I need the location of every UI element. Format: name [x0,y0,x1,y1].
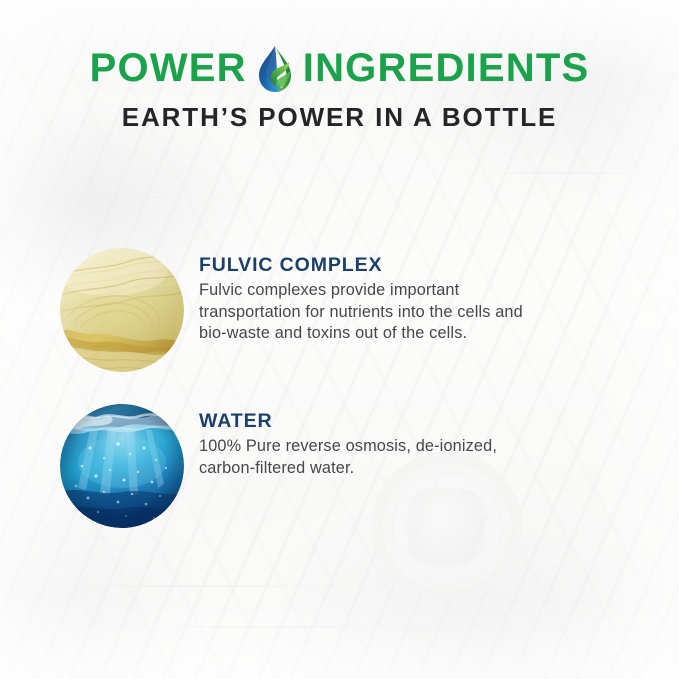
description-line: 100% Pure reverse osmosis, de-ionized, [199,436,619,458]
ingredient-row-fulvic-complex: FULVIC COMPLEX Fulvic complexes provide … [60,248,619,372]
background-streak [0,585,400,587]
background-streak [0,196,270,198]
power-ingredients-poster: POWER [0,0,679,679]
ingredient-title-fulvic-complex: FULVIC COMPLEX [199,254,619,276]
page-subtitle: EARTH’S POWER IN A BOTTLE [0,102,679,132]
description-line: transportation for nutrients into the ce… [199,302,619,324]
poster-header: POWER [0,0,679,132]
ingredient-title-water: WATER [199,410,619,432]
description-line: Fulvic complexes provide important [199,280,619,302]
background-streak [40,626,560,628]
ingredient-text-water: WATER 100% Pure reverse osmosis, de-ioni… [199,404,619,479]
ingredient-row-water: WATER 100% Pure reverse osmosis, de-ioni… [60,404,619,528]
water-leaf-droplet-icon [256,45,294,93]
background-streak [430,172,679,174]
fulvic-liquid-circle-image [60,248,184,372]
ingredient-description-fulvic-complex: Fulvic complexes provide important trans… [199,280,619,345]
underwater-bubbles-circle-image [60,404,184,528]
headline-word-power: POWER [90,46,247,90]
ingredient-text-fulvic-complex: FULVIC COMPLEX Fulvic complexes provide … [199,248,619,345]
description-line: bio-waste and toxins out of the cells. [199,323,619,345]
page-title: POWER [0,0,679,92]
description-line: carbon-filtered water. [199,458,619,480]
ingredient-description-water: 100% Pure reverse osmosis, de-ionized, c… [199,436,619,479]
headline-word-ingredients: INGREDIENTS [303,46,590,90]
